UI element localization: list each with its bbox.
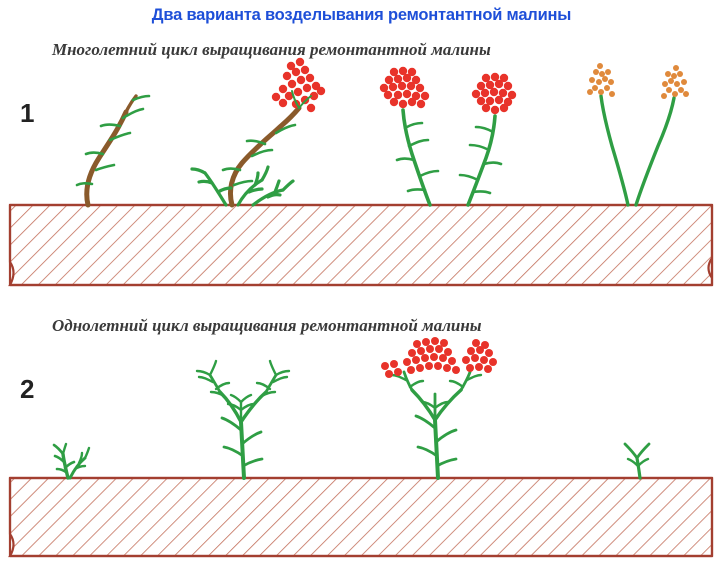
panel-1-season-label-winter: Зима: [600, 222, 650, 245]
plant-p1-autumn: [380, 67, 516, 205]
dried-tips-right: [661, 65, 689, 99]
ground-band-panel-1: [10, 205, 712, 285]
ground-band-panel-2: [10, 478, 712, 556]
panel-2-number: 2: [20, 374, 34, 405]
plant-p1-summer: [192, 58, 325, 205]
plant-p2-spring: [54, 444, 89, 478]
panel-2-season-label-summer: Лето: [204, 494, 251, 517]
panel-2-season-label-spring: Весна: [22, 494, 82, 517]
plant-p1-spring: [77, 96, 149, 205]
dried-tips-left: [587, 63, 615, 97]
panel-1-title: Многолетний цикл выращивания ремонтантно…: [52, 40, 491, 60]
berries-p1-autumn-right: [472, 73, 516, 114]
panel-1-season-label-spring: Весна: [22, 222, 82, 245]
panel-1-season-label-summer: Лето: [204, 222, 251, 245]
plant-p2-autumn: [381, 337, 497, 478]
panel-2-season-label-autumn: Осень: [392, 494, 454, 517]
panel-2-title: Однолетний цикл выращивания ремонтантной…: [52, 316, 482, 336]
panel-1-number: 1: [20, 98, 34, 129]
diagram-page: Два варианта возделывания ремонтантной м…: [0, 0, 723, 564]
berries-p2-autumn-right: [462, 339, 497, 373]
page-title: Два варианта возделывания ремонтантной м…: [0, 6, 723, 25]
plant-p1-winter: [587, 63, 689, 205]
plant-p2-winter: [625, 444, 649, 478]
plant-p2-summer: [197, 361, 289, 478]
panel-1-season-label-autumn: Осень: [392, 222, 454, 245]
panel-2-season-label-winter: Зима: [600, 494, 650, 517]
berries-p2-autumn-left: [381, 360, 402, 378]
berries-p1-summer: [272, 58, 325, 112]
berries-p1-autumn-left: [380, 67, 429, 108]
berries-p2-autumn-center: [403, 337, 460, 374]
diagram-artwork: [0, 0, 723, 564]
